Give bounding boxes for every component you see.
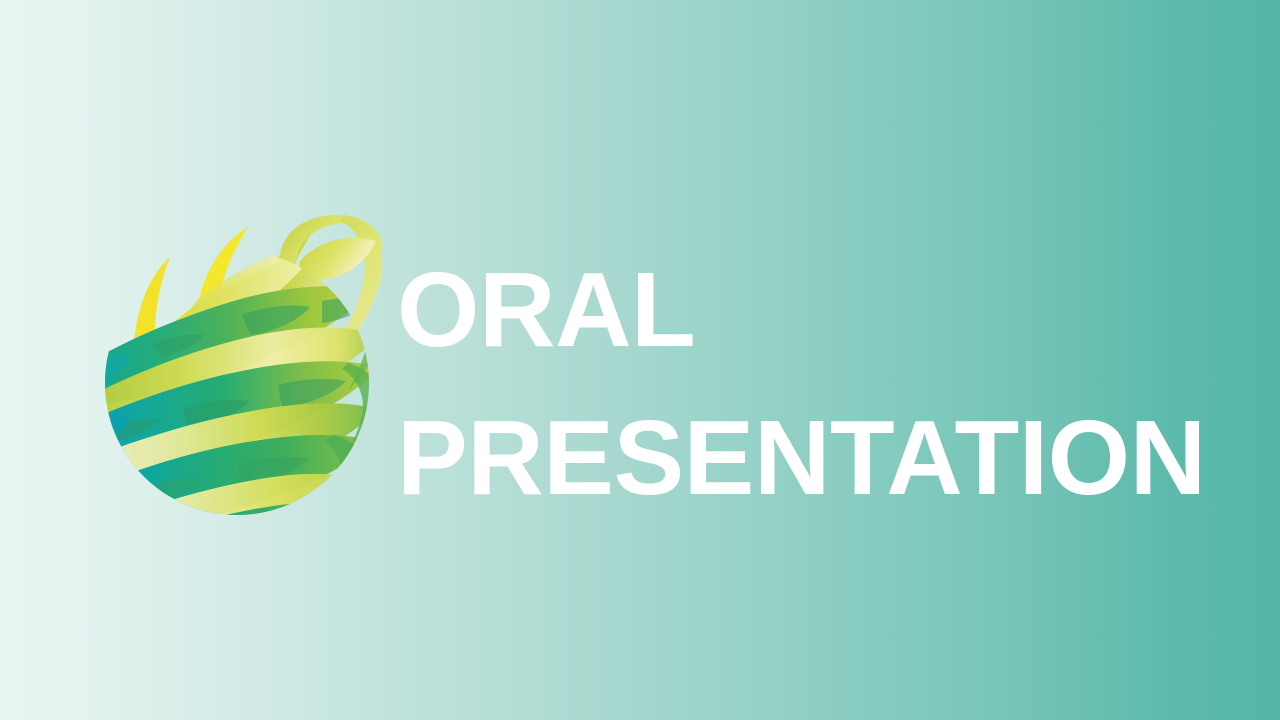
presentation-slide: ORAL PRESENTATION [0,0,1280,720]
title-line-oral: ORAL [397,236,1217,384]
title-line-presentation: PRESENTATION [397,384,1217,532]
spiral-ribbon-globe-logo [92,193,382,518]
globe-ribbons [92,215,382,518]
slide-title: ORAL PRESENTATION [397,236,1217,532]
